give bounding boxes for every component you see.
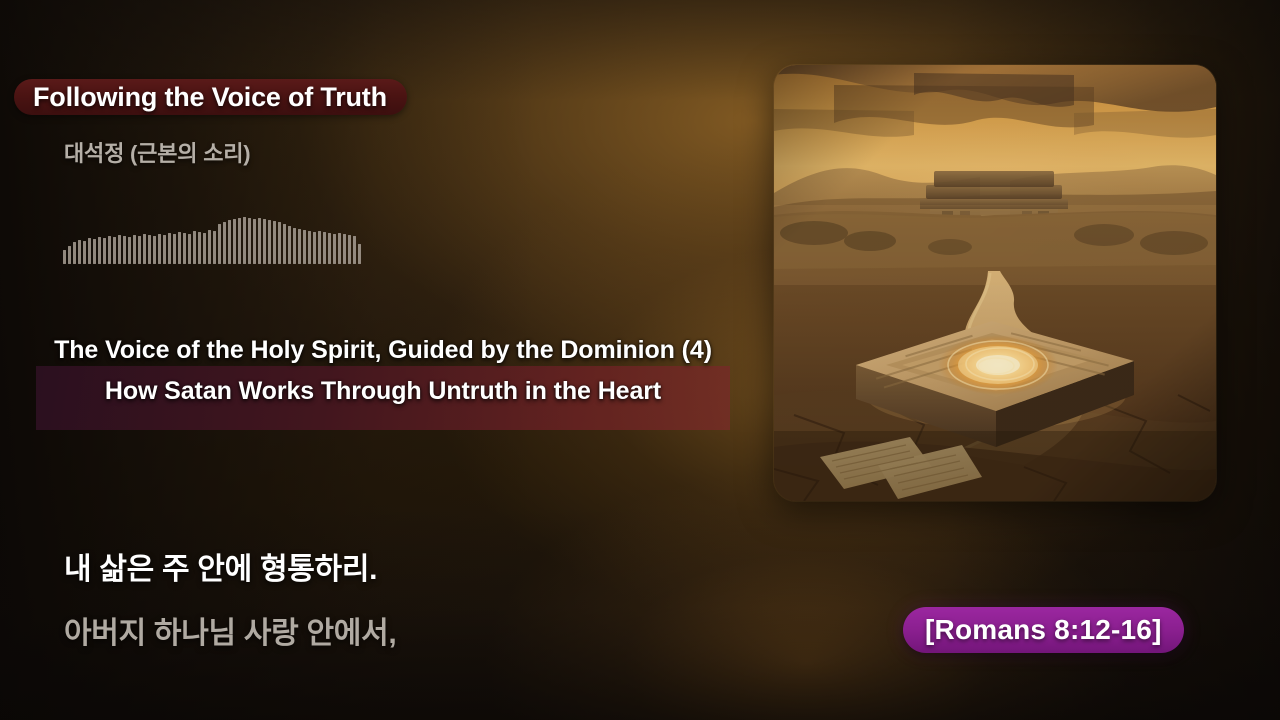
waveform-bar (263, 219, 266, 264)
waveform-bar (253, 219, 256, 264)
waveform-bar (88, 238, 91, 264)
waveform-bar (283, 224, 286, 264)
waveform-bar (243, 217, 246, 264)
waveform-bar (83, 241, 86, 264)
waveform-bar (198, 232, 201, 264)
waveform-bar (343, 234, 346, 264)
waveform-bar (268, 220, 271, 264)
subtitle-line-1: The Voice of the Holy Spirit, Guided by … (54, 336, 712, 365)
waveform-bar (218, 224, 221, 264)
waveform-bar (193, 231, 196, 264)
waveform-bar (323, 232, 326, 264)
waveform-bar (358, 244, 361, 264)
waveform-bar (98, 237, 101, 264)
waveform-bar (128, 237, 131, 264)
player-stage: Following the Voice of Truth 대석정 (근본의 소리… (0, 0, 1280, 720)
waveform-bar (183, 233, 186, 264)
audio-waveform[interactable] (63, 212, 388, 264)
track-title-pill: Following the Voice of Truth (14, 79, 407, 115)
waveform-bar (233, 219, 236, 264)
waveform-bar (93, 239, 96, 264)
waveform-bar (143, 234, 146, 264)
waveform-bar (188, 234, 191, 264)
subtitle-block: The Voice of the Holy Spirit, Guided by … (36, 334, 730, 434)
waveform-bar (153, 236, 156, 264)
waveform-bar (173, 234, 176, 264)
waveform-bar (213, 231, 216, 264)
waveform-bar (103, 238, 106, 264)
waveform-bar (353, 236, 356, 264)
waveform-bar (133, 235, 136, 264)
waveform-bar (63, 250, 66, 264)
waveform-bar (288, 226, 291, 264)
waveform-bar (168, 233, 171, 264)
waveform-bar (68, 246, 71, 264)
waveform-bar (228, 220, 231, 264)
waveform-bar (178, 232, 181, 264)
waveform-bar (163, 235, 166, 264)
track-artist: 대석정 (근본의 소리) (64, 136, 250, 168)
track-title: Following the Voice of Truth (33, 82, 387, 113)
waveform-bar (123, 236, 126, 264)
waveform-bar (278, 222, 281, 264)
waveform-bar (248, 218, 251, 264)
waveform-bar (148, 235, 151, 264)
waveform-bar (118, 235, 121, 264)
waveform-bar (333, 234, 336, 264)
scripture-reference-text: [Romans 8:12-16] (925, 614, 1162, 646)
waveform-bar (338, 233, 341, 264)
waveform-bar (308, 231, 311, 264)
waveform-bar (313, 232, 316, 264)
lyric-line-active: 내 삶은 주 안에 형통하리. (64, 544, 377, 588)
waveform-bar (318, 231, 321, 264)
lyric-line-next: 아버지 하나님 사랑 안에서, (64, 608, 396, 652)
waveform-bar (138, 236, 141, 264)
album-artwork (774, 65, 1216, 501)
waveform-bar (113, 237, 116, 264)
waveform-bar (208, 230, 211, 264)
waveform-bar (158, 234, 161, 264)
waveform-bar (238, 218, 241, 264)
waveform-bar (203, 233, 206, 264)
waveform-bar (303, 230, 306, 264)
waveform-bar (273, 221, 276, 264)
waveform-bar (73, 242, 76, 264)
album-artwork-illustration (774, 65, 1216, 501)
waveform-bar (298, 229, 301, 264)
waveform-bar (108, 236, 111, 264)
waveform-bar (328, 233, 331, 264)
waveform-bar (258, 218, 261, 264)
waveform-bar (78, 240, 81, 264)
subtitle-line-2: How Satan Works Through Untruth in the H… (105, 377, 661, 406)
scripture-reference-badge: [Romans 8:12-16] (903, 607, 1184, 653)
waveform-bar (223, 222, 226, 264)
waveform-bar (348, 235, 351, 264)
waveform-bar (293, 228, 296, 264)
